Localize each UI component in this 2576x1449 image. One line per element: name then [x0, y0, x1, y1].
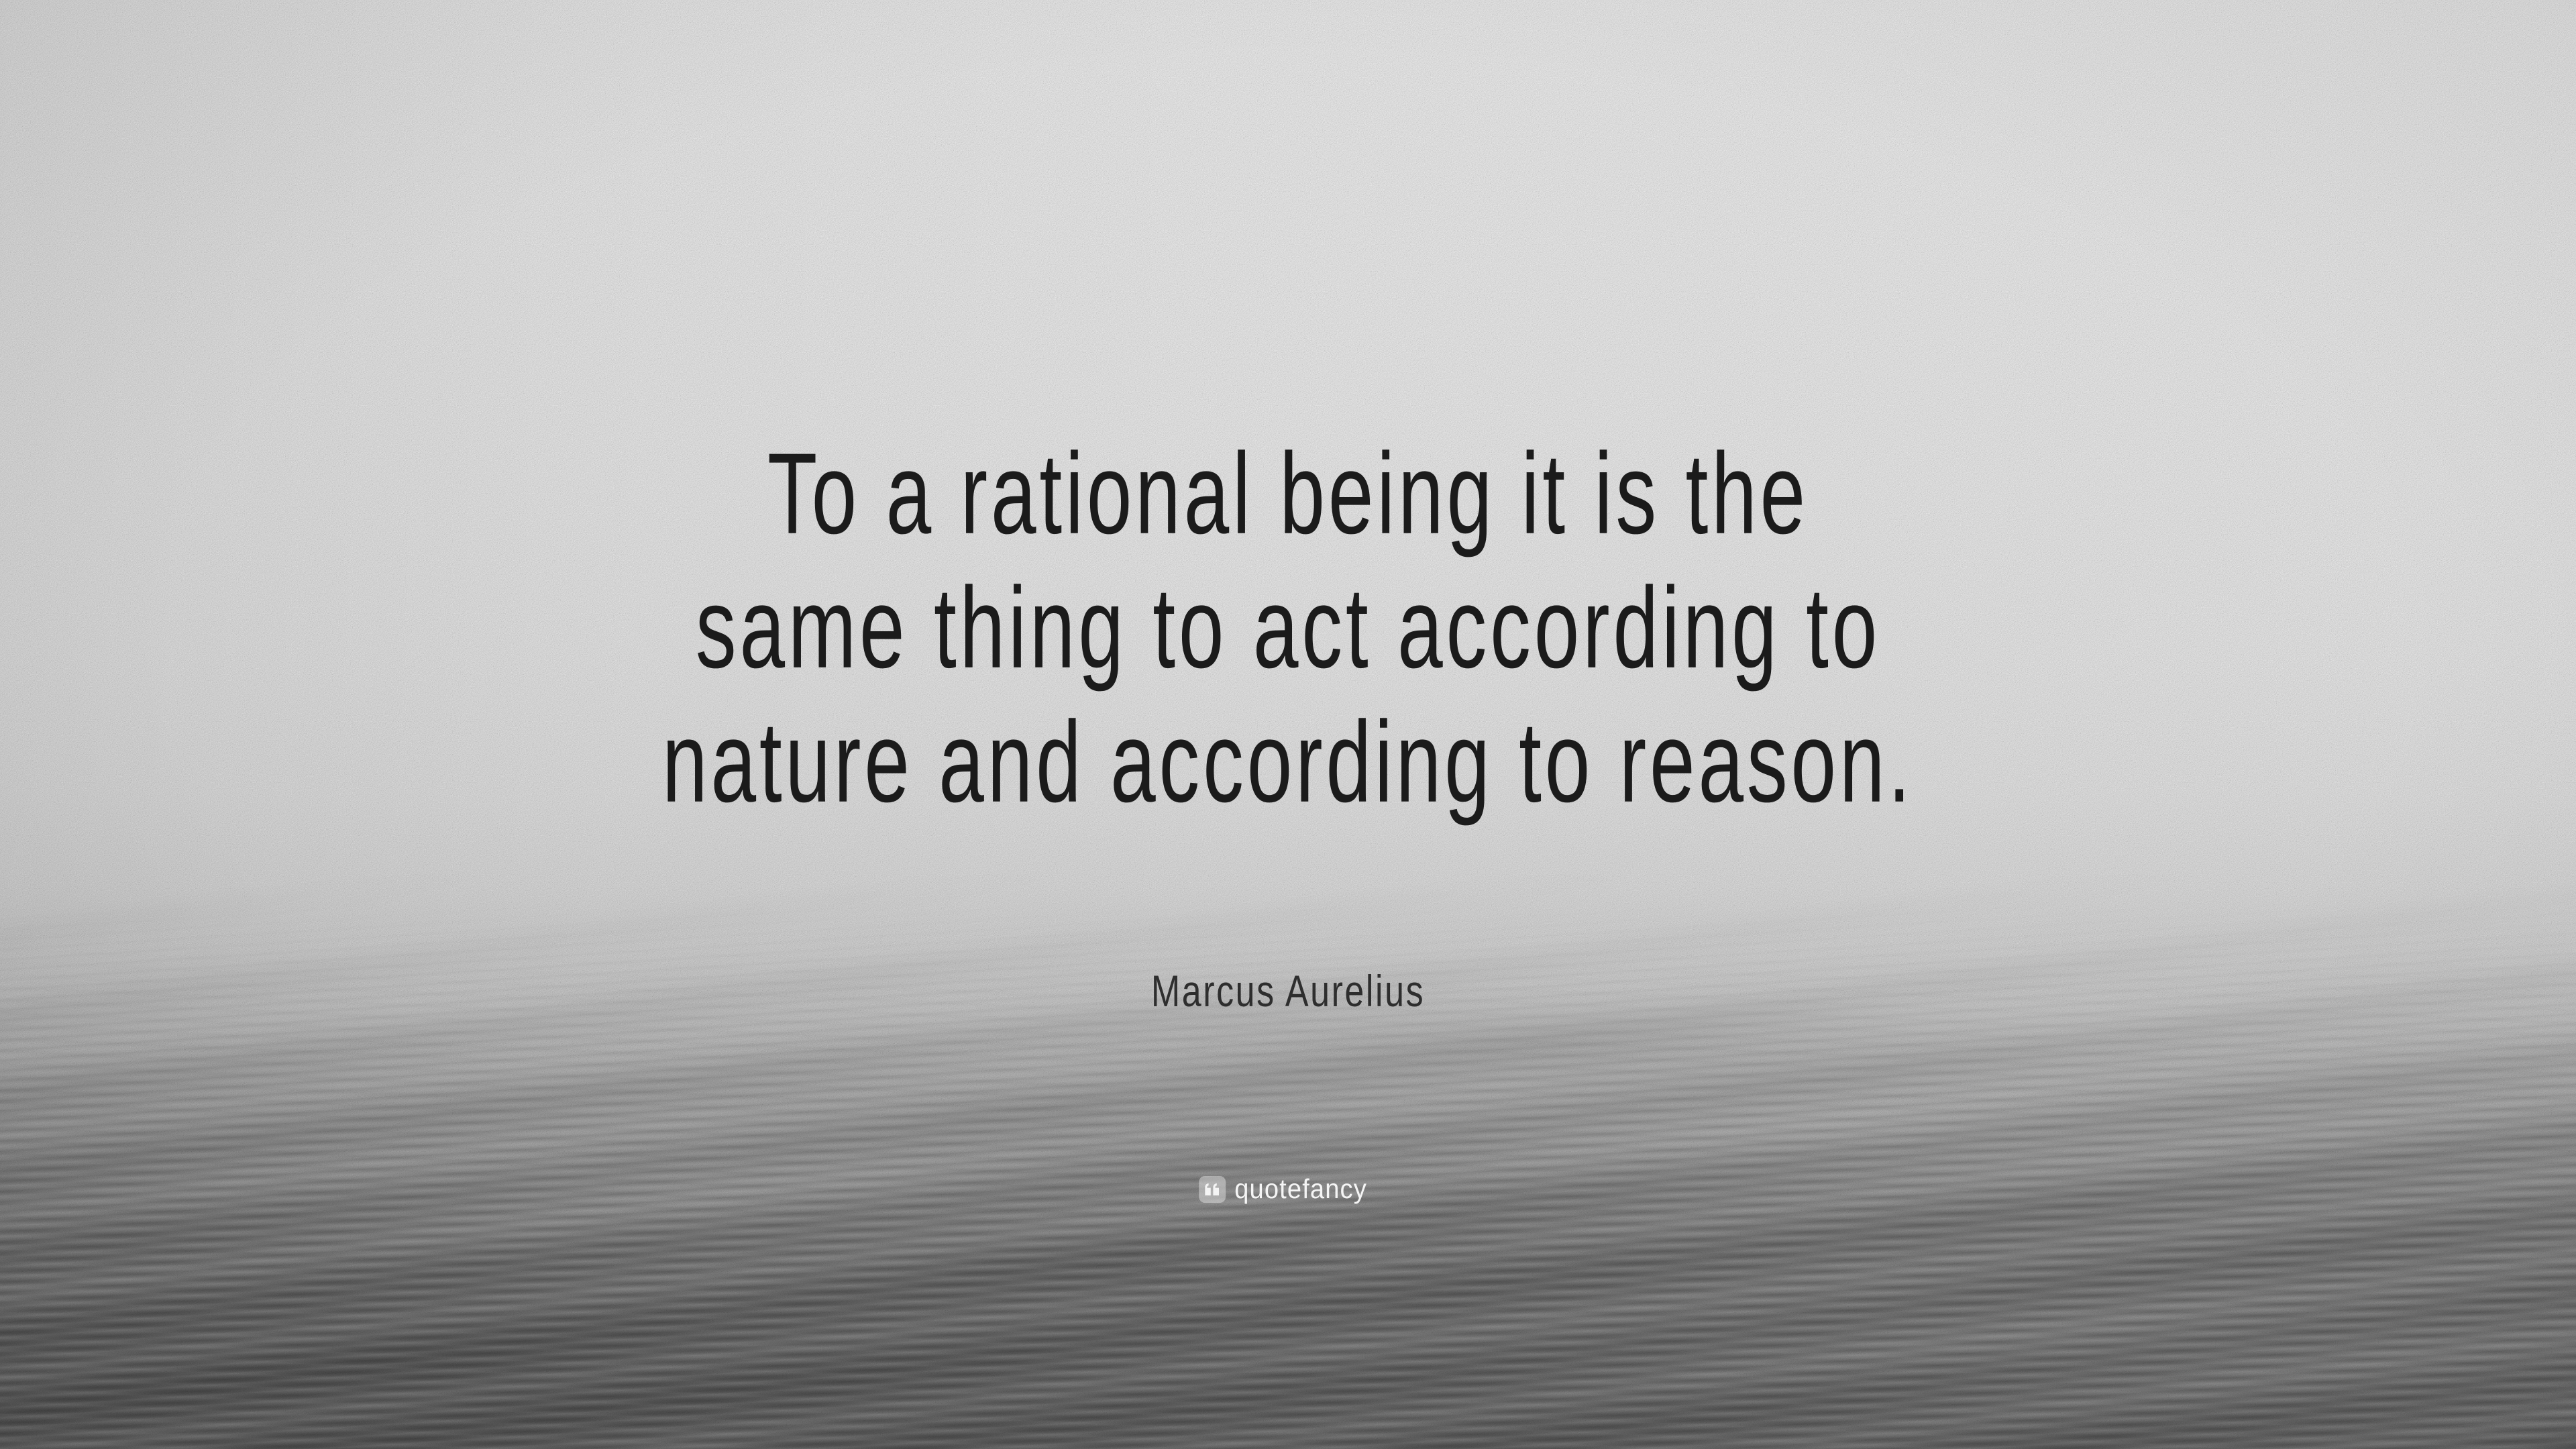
quote-author: Marcus Aurelius — [1125, 968, 1451, 1016]
quote-author-name: Marcus Aurelius — [1151, 967, 1425, 1017]
quote-line-3: nature and according to reason. — [639, 686, 1937, 838]
quote-line-1: To a rational being it is the — [639, 418, 1937, 570]
quotefancy-watermark[interactable]: quotefancy — [1199, 1175, 1377, 1203]
quote-wallpaper-canvas: To a rational being it is the same thing… — [0, 0, 2576, 1449]
quotefancy-brand-label: quotefancy — [1234, 1175, 1367, 1203]
quote-line-2: same thing to act according to — [639, 552, 1937, 704]
quote-text-block: To a rational being it is the same thing… — [476, 427, 2100, 829]
quote-content: To a rational being it is the same thing… — [0, 0, 2576, 1449]
double-quote-icon — [1199, 1176, 1226, 1203]
